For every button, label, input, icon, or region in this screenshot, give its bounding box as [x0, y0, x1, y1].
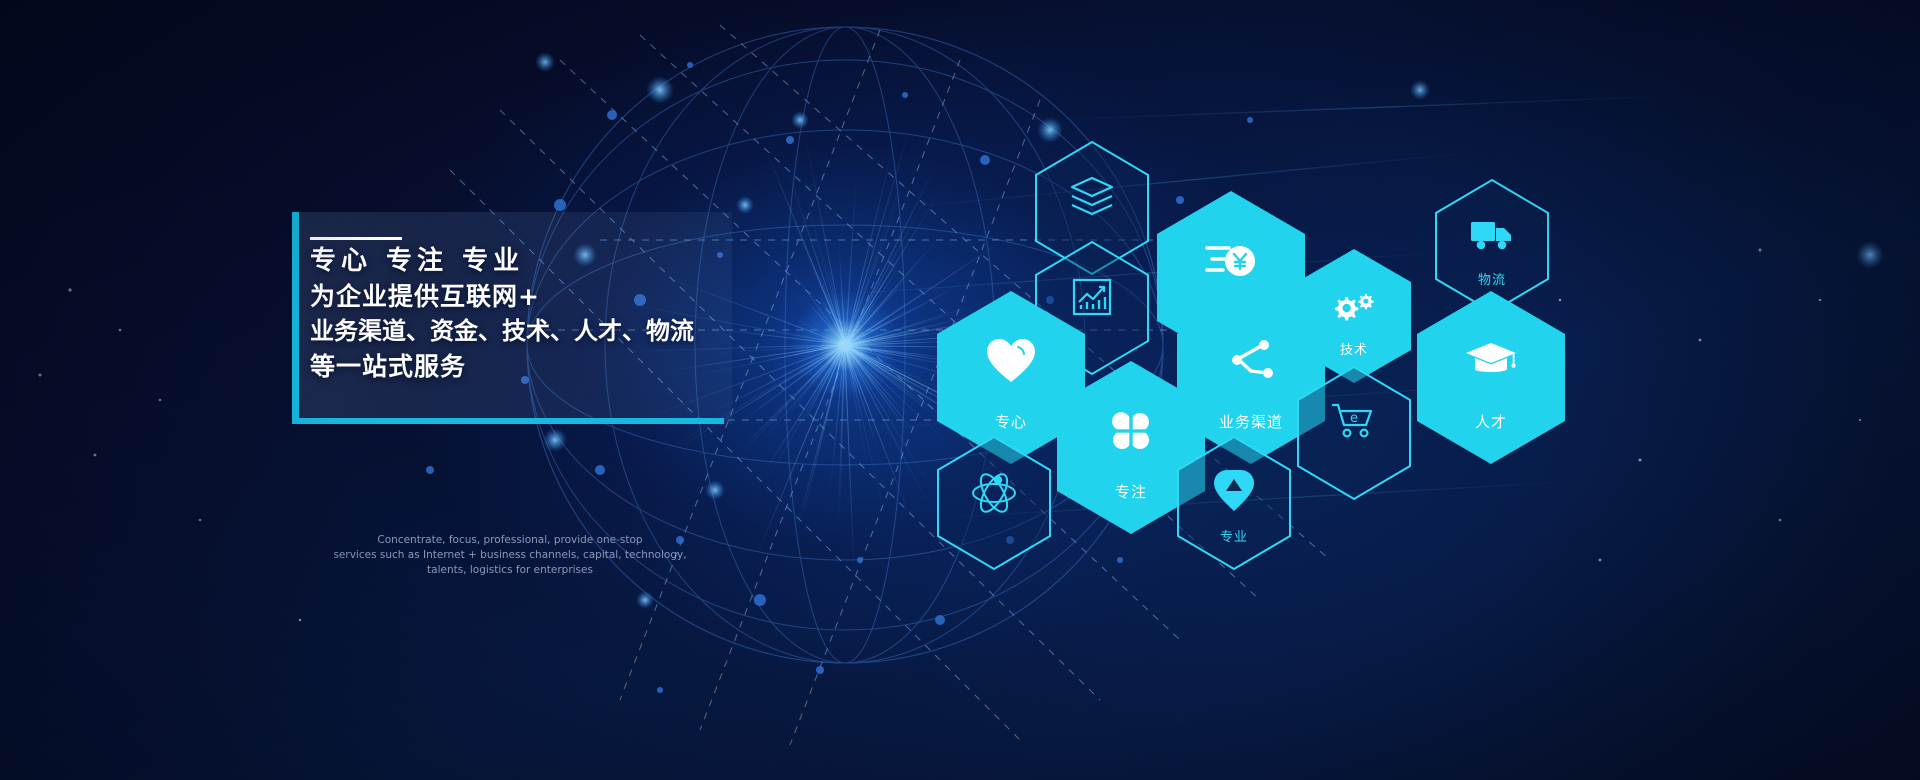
headline-group: 专心 专注 专业 为企业提供互联网+ 业务渠道、资金、技术、人才、物流 等一站式…	[310, 244, 740, 384]
heading-rule	[310, 237, 402, 240]
hexagon-atom[interactable]	[935, 435, 1053, 571]
hexagon-rencai[interactable]: 人才	[1415, 290, 1567, 465]
hero-banner: 资金 物流	[0, 0, 1920, 780]
hexagon-cluster: 资金 物流	[0, 0, 1920, 780]
money-yen-icon	[1155, 232, 1307, 290]
hexagon-zhuanye[interactable]: 专业	[1175, 435, 1293, 571]
hexagon-label: 物流	[1433, 269, 1551, 288]
subtitle-line-3: talents, logistics for enterprises	[300, 563, 720, 578]
atom-icon	[935, 468, 1053, 514]
ecommerce-cart-icon: e	[1295, 398, 1413, 444]
hexagon-label: 专业	[1175, 526, 1293, 545]
truck-icon	[1433, 211, 1551, 257]
layers-icon	[1033, 173, 1151, 219]
hexagon-ecommerce[interactable]: e	[1295, 365, 1413, 501]
headline-line-1: 专心 专注 专业	[310, 244, 740, 279]
subtitle-group: Concentrate, focus, professional, provid…	[300, 533, 720, 578]
graduation-cap-icon	[1415, 332, 1567, 390]
subtitle-line-1: Concentrate, focus, professional, provid…	[300, 533, 720, 548]
accent-bar-left	[292, 212, 299, 424]
headline-line-4: 等一站式服务	[310, 349, 740, 384]
diamond-icon	[1175, 468, 1293, 514]
subtitle-line-2: services such as Internet + business cha…	[300, 548, 720, 563]
svg-text:e: e	[1350, 411, 1358, 426]
accent-bar-bottom	[292, 418, 724, 424]
headline-line-3: 业务渠道、资金、技术、人才、物流	[310, 314, 740, 349]
headline-line-2: 为企业提供互联网+	[310, 279, 740, 314]
hexagon-label: 人才	[1415, 411, 1567, 432]
